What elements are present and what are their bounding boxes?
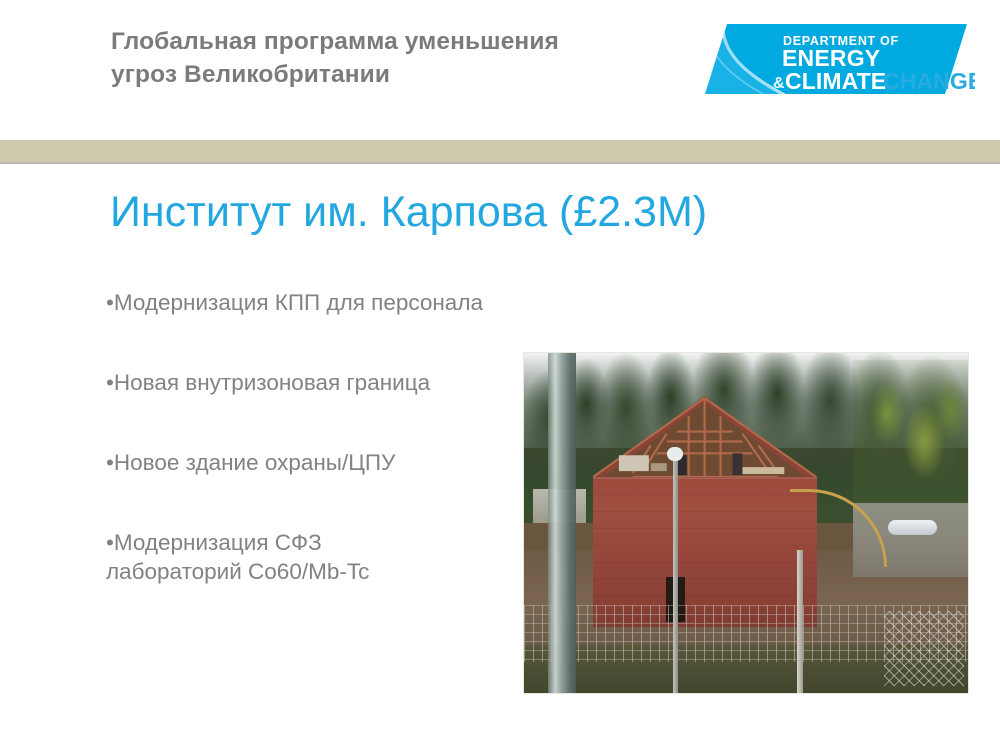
photo-roof-truss — [593, 394, 817, 479]
page-title: Институт им. Карпова (£2.3M) — [110, 186, 707, 238]
header-title: Глобальная программа уменьшения угроз Ве… — [111, 25, 671, 91]
photo-razor-wire — [884, 611, 964, 686]
logo-line-change: CHANGE — [883, 68, 975, 94]
slide: Глобальная программа уменьшения угроз Ве… — [0, 0, 1000, 750]
list-item: •Новая внутризоновая граница — [106, 368, 546, 397]
photo-foreground-pole — [548, 353, 576, 693]
decc-logo-graphic: DEPARTMENT OF ENERGY & CLIMATE CHANGE — [705, 18, 975, 98]
photo-white-tank — [888, 520, 937, 535]
divider-band — [0, 140, 1000, 162]
construction-photo — [523, 352, 969, 694]
logo-ampersand: & — [773, 75, 785, 92]
photo-lamp-post — [673, 455, 678, 693]
list-item: •Модернизация СФЗ лабораторий Co60/Mb-Tc — [106, 528, 546, 586]
roof-truss-graphic — [593, 394, 817, 479]
bullet-list: •Модернизация КПП для персонала •Новая в… — [106, 288, 546, 586]
photo-street-lamp-post — [797, 550, 803, 693]
list-item: •Модернизация КПП для персонала — [106, 288, 546, 317]
logo-line-climate: CLIMATE — [785, 68, 886, 94]
decc-logo: DEPARTMENT OF ENERGY & CLIMATE CHANGE — [705, 18, 975, 98]
divider-line — [0, 162, 1000, 164]
list-item: •Новое здание охраны/ЦПУ — [106, 448, 546, 477]
photo-lamp-head — [667, 447, 682, 462]
